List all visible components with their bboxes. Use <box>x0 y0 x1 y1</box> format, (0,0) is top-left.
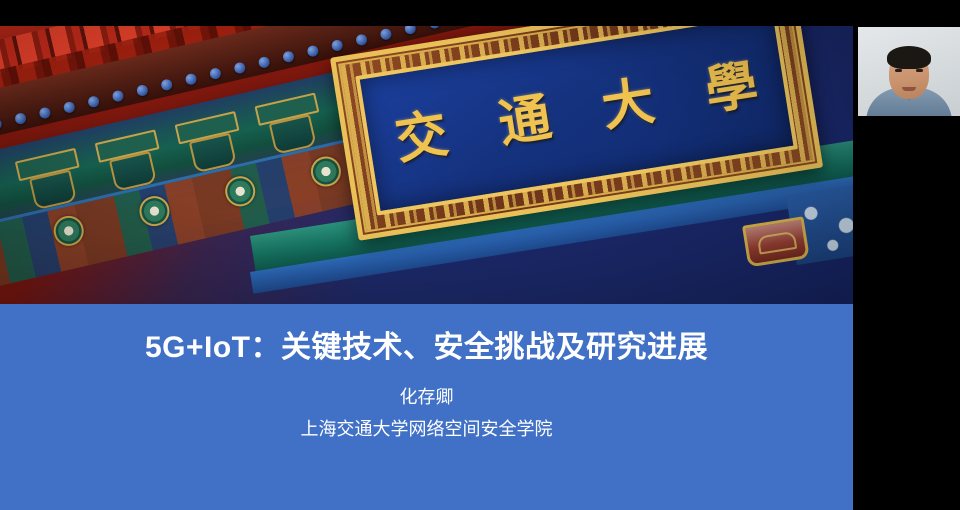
plaque-char-3: 大 <box>598 75 658 134</box>
lotus-medallion-icon <box>308 154 344 190</box>
stud-icon <box>209 67 222 80</box>
webcam-speaker-eye-left <box>895 69 902 72</box>
stud-icon <box>111 89 124 102</box>
stud-icon <box>136 84 149 97</box>
stud-icon <box>160 78 173 91</box>
right-letterbox-column <box>853 0 960 510</box>
stud-icon <box>63 101 76 114</box>
stud-icon <box>306 44 319 57</box>
stud-icon <box>0 118 3 131</box>
lotus-medallion-icon <box>51 213 87 249</box>
letterbox-top-bar <box>0 0 853 26</box>
slide-affiliation: 上海交通大学网络空间安全学院 <box>0 408 853 441</box>
slide-photo-temple: 交 通 大 學 <box>0 0 853 304</box>
stud-icon <box>282 50 295 63</box>
plaque-char-4: 學 <box>702 58 762 117</box>
webcam-speaker-mouth <box>902 87 916 91</box>
plaque-char-1: 交 <box>392 107 452 166</box>
plaque-char-2: 通 <box>495 91 555 150</box>
stud-icon <box>331 39 344 52</box>
stud-icon <box>355 33 368 46</box>
stud-icon <box>87 95 100 108</box>
speaker-webcam-tile[interactable] <box>858 27 960 116</box>
stud-icon <box>233 61 246 74</box>
slide-text-block: 5G+IoT：关键技术、安全挑战及研究进展 化存卿 上海交通大学网络空间安全学院 <box>0 304 853 510</box>
slide-title: 5G+IoT：关键技术、安全挑战及研究进展 <box>0 304 853 366</box>
lotus-medallion-icon <box>0 233 1 269</box>
slide-author: 化存卿 <box>0 366 853 409</box>
stud-icon <box>379 28 392 41</box>
stud-icon <box>38 106 51 119</box>
webcam-speaker-eye-right <box>916 69 923 72</box>
lotus-medallion-icon <box>136 193 172 229</box>
stud-icon <box>258 56 271 69</box>
webcam-speaker-hair <box>887 46 931 69</box>
presentation-slide[interactable]: 交 通 大 學 5G+IoT：关键技术、安全挑战及研究进展 化存卿 上海交通大学… <box>0 0 853 510</box>
lotus-medallion-icon <box>222 173 258 209</box>
stud-icon <box>14 112 27 125</box>
stud-icon <box>184 73 197 86</box>
screen-root: 交 通 大 學 5G+IoT：关键技术、安全挑战及研究进展 化存卿 上海交通大学… <box>0 0 960 510</box>
